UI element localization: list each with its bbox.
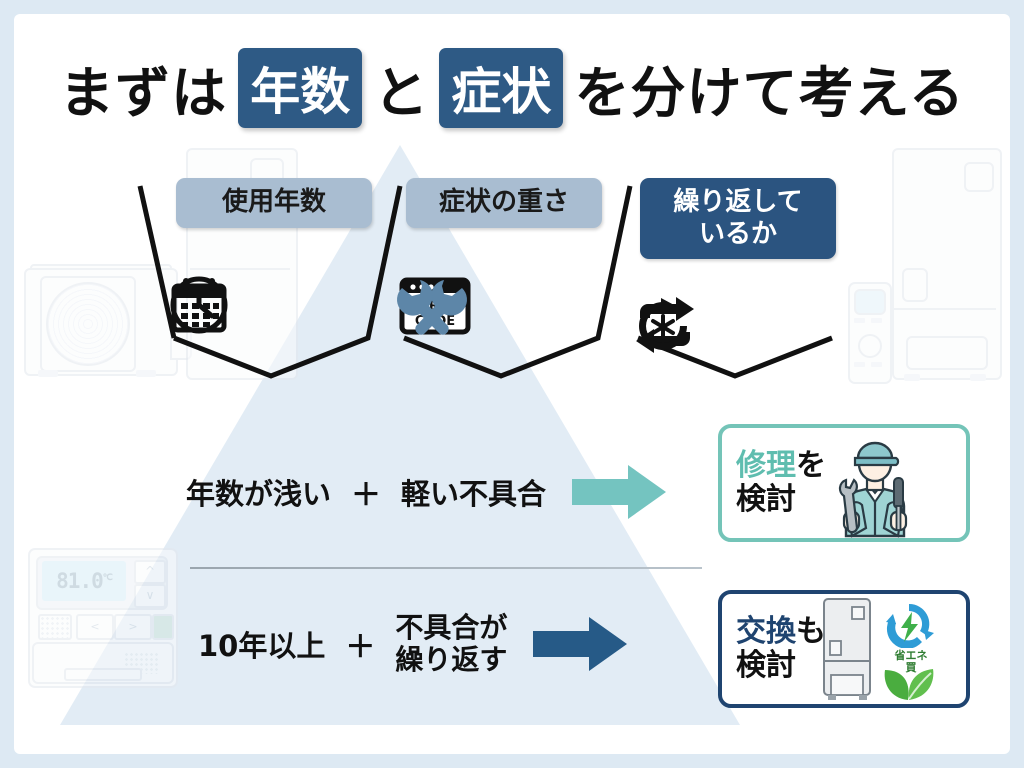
- result-line2-replace: 検討: [736, 648, 796, 683]
- condition-b-2: 不具合が 繰り返す: [395, 612, 507, 676]
- criteria-label-2: 症状の重さ: [406, 178, 602, 228]
- result-card-repair[interactable]: 修理を 検討: [718, 424, 970, 542]
- criteria-label-1: 使用年数: [176, 178, 372, 228]
- title-part-1: まずは: [59, 61, 227, 125]
- thermostat-up-button: ^: [134, 560, 166, 584]
- thermostat-controller-illustration: 81.0℃ ^ ∨ < >: [28, 548, 178, 688]
- title-part-3: を分けて考える: [575, 61, 965, 125]
- condition-row-repair: 年数が浅い ＋ 軽い不具合: [186, 462, 668, 522]
- thermostat-prev-button: <: [76, 614, 114, 640]
- result-highlight-replace: 交換: [736, 614, 796, 649]
- refresh-snowflake-icon: [632, 296, 694, 356]
- condition-a-2: 10年以上: [198, 623, 325, 665]
- criteria-block-symptom-severity[interactable]: 症状の重さ ERROR CODE: [398, 178, 608, 408]
- infographic-canvas: 81.0℃ ^ ∨ < > まずは 年数 と 症状 を分けて考える 使用年数: [0, 0, 1024, 768]
- condition-b-2-line2: 繰り返す: [395, 643, 507, 676]
- replace-art: 省エネ 買: [826, 594, 966, 704]
- thermostat-next-button: >: [114, 614, 152, 640]
- title-part-2: と: [373, 61, 428, 125]
- result-line2-repair: 検討: [736, 482, 796, 517]
- appliance-icon: [818, 597, 880, 703]
- plus-sign-1: ＋: [351, 470, 381, 514]
- arrow-to-replace: [533, 614, 629, 674]
- eco-badge-label: 省エネ 買: [888, 650, 934, 673]
- technician-icon: [822, 432, 928, 538]
- title-highlight-years: 年数: [238, 48, 362, 128]
- condition-a-1: 年数が浅い: [186, 471, 331, 513]
- criteria-label-3-line2: いるか: [699, 219, 777, 249]
- criteria-icons-1: [168, 274, 378, 346]
- result-card-replace[interactable]: 交換も 検討: [718, 590, 970, 708]
- row-divider: [190, 567, 702, 569]
- result-highlight-repair: 修理: [736, 448, 796, 483]
- condition-b-1: 軽い不具合: [401, 471, 546, 513]
- result-card-repair-text: 修理を 検討: [722, 449, 826, 517]
- criteria-label-3-line1: 繰り返して: [673, 187, 802, 217]
- criteria-block-repeating[interactable]: 繰り返して いるか: [632, 178, 842, 408]
- water-heater-illustration: [892, 148, 1012, 384]
- eco-recycle-icon: [882, 600, 936, 648]
- calendar-icon: [168, 274, 230, 336]
- page-title: まずは 年数 と 症状 を分けて考える: [0, 48, 1024, 128]
- criteria-block-usage-years[interactable]: 使用年数: [168, 178, 378, 408]
- thermostat-temperature: 81.0℃: [56, 569, 112, 593]
- thermostat-down-button: ∨: [134, 584, 166, 608]
- condition-b-2-line1: 不具合が: [395, 611, 507, 644]
- eco-badge-line2: 買: [906, 661, 917, 674]
- condition-row-replace: 10年以上 ＋ 不具合が 繰り返す: [198, 612, 629, 676]
- technician-art: [826, 428, 966, 538]
- criteria-icons-2: ERROR CODE: [398, 274, 608, 346]
- criteria-label-3: 繰り返して いるか: [640, 178, 836, 259]
- plus-sign-2: ＋: [345, 622, 375, 666]
- criteria-icons-3: [632, 296, 842, 368]
- result-card-replace-text: 交換も 検討: [722, 615, 826, 683]
- tools-icon: [398, 274, 468, 338]
- arrow-to-repair: [572, 462, 668, 522]
- title-highlight-symptom: 症状: [439, 48, 563, 128]
